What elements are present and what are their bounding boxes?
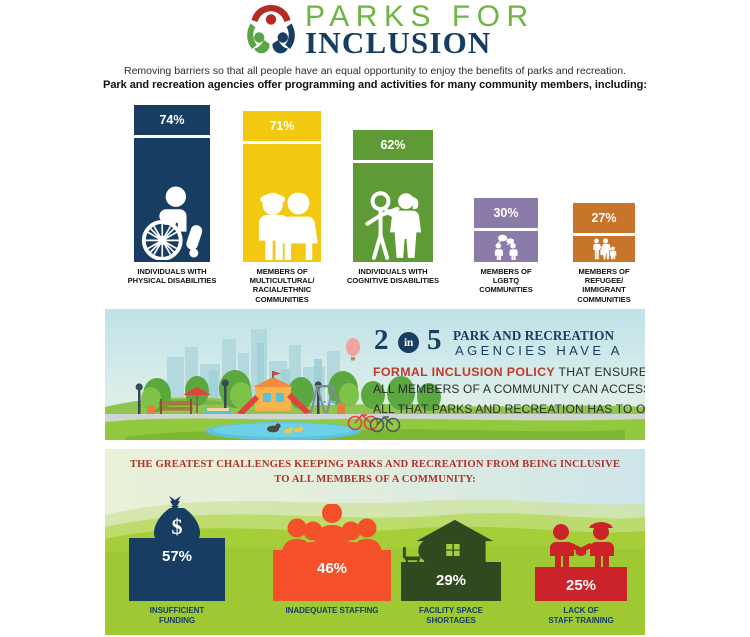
top-bar-percent-3: 62%	[353, 130, 433, 160]
top-bar-percent-1: 74%	[134, 105, 210, 135]
two-people-icon	[243, 182, 321, 260]
label-line: STAFF TRAINING	[509, 616, 645, 626]
stat-body-line-4: ALL THAT PARKS AND RECREATION HAS TO OFF…	[373, 402, 645, 416]
label-line: INDIVIDUALS WITH	[112, 267, 232, 276]
label-line: SHORTAGES	[375, 616, 527, 626]
stat-emphasis-text: FORMAL INCLUSION POLICY	[373, 365, 555, 379]
label-line: MEMBERS OF	[551, 267, 657, 276]
svg-text:$: $	[172, 514, 183, 539]
label-line: IMMIGRANT	[551, 285, 657, 294]
bottom-bar-1: $ 57%INSUFFICIENTFUNDING	[129, 538, 225, 601]
top-bar-label-3: INDIVIDUALS WITHCOGNITIVE DISABILITIES	[331, 267, 455, 285]
mid-statistic-band: 2 in 5 PARK AND RECREATION AGENCIES HAVE…	[105, 309, 645, 440]
label-line: RACIAL/ETHNIC	[221, 285, 343, 294]
label-line: FUNDING	[105, 616, 251, 626]
stat-body-line-2: FORMAL INCLUSION POLICY THAT ENSURES	[373, 363, 641, 379]
infographic-canvas: PARKS FOR INCLUSION Removing barriers so…	[0, 0, 750, 637]
top-bar-label-4: MEMBERS OFLGBTQCOMMUNITIES	[452, 267, 560, 295]
wheelchair-user-icon	[134, 182, 210, 260]
top-bar-body-1	[134, 138, 210, 262]
stat-headline-line-1: PARK AND RECREATION	[453, 328, 614, 343]
family-with-luggage-icon	[573, 238, 635, 260]
label-line: COMMUNITIES	[221, 295, 343, 304]
bottom-bar-label-4: LACK OFSTAFF TRAINING	[509, 606, 645, 626]
label-line: PHYSICAL DISABILITIES	[112, 276, 232, 285]
label-line: REFUGEE/	[551, 276, 657, 285]
label-line: LGBTQ	[452, 276, 560, 285]
stat-headline-line-2: AGENCIES HAVE A	[455, 343, 623, 358]
top-bar-body-3	[353, 163, 433, 262]
bottom-heading-line-2: TO ALL MEMBERS OF A COMMUNITY:	[105, 473, 645, 488]
top-bar-5: 27% MEMBERS OFREFUGEE/IMMIGRANTCOMMUNITI…	[573, 203, 635, 262]
stat-body-line-3: ALL MEMBERS OF A COMMUNITY CAN ACCESS AN…	[373, 382, 645, 396]
bottom-bar-3: 29%FACILITY SPACESHORTAGES	[401, 562, 501, 601]
stat-number-2: 2	[374, 326, 389, 354]
bottom-bar-body-2: 46%	[273, 550, 391, 601]
bottom-bar-2: 46%INADEQUATE STAFFING	[273, 550, 391, 601]
bottom-bar-body-4: 25%	[535, 567, 627, 601]
bottom-challenges-section: THE GREATEST CHALLENGES KEEPING PARKS AN…	[105, 449, 645, 635]
bottom-bar-body-1: 57%	[129, 538, 225, 601]
pond	[205, 422, 361, 440]
stat-headline-row: 2 in 5 PARK AND RECREATION AGENCIES HAVE…	[373, 327, 641, 355]
bottom-bar-percent-4: 25%	[566, 577, 596, 594]
label-line: LACK OF	[509, 606, 645, 616]
label-line: COMMUNITIES	[551, 295, 657, 304]
stat-line2-rest: THAT ENSURES	[555, 365, 645, 379]
bottom-bar-percent-1: 57%	[162, 548, 192, 565]
label-line: COMMUNITIES	[452, 285, 560, 294]
two-people-speech-bubbles-icon	[474, 233, 538, 260]
top-bar-label-2: MEMBERS OFMULTICULTURAL/RACIAL/ETHNICCOM…	[221, 267, 343, 304]
subtitle-block: Removing barriers so that all people hav…	[0, 64, 750, 93]
header: PARKS FOR INCLUSION	[0, 0, 750, 62]
label-line: INSUFFICIENT	[105, 606, 251, 616]
top-bar-body-5	[573, 236, 635, 262]
top-bar-2: 71% MEMBERS OFMULTICULTURAL/RACIAL/ETHNI…	[243, 111, 321, 262]
top-bar-1: 74% INDIVIDUALS WITHPHYSICAL DISABILITIE…	[134, 105, 210, 262]
bottom-bar-label-1: INSUFFICIENTFUNDING	[105, 606, 251, 626]
bottom-heading: THE GREATEST CHALLENGES KEEPING PARKS AN…	[105, 458, 645, 487]
top-bar-3: 62% INDIVIDUALS WITHCOGNITIVE DISABILITI…	[353, 130, 433, 262]
stat-in-badge: in	[398, 332, 419, 353]
top-bar-chart: 74% INDIVIDUALS WITHPHYSICAL DISABILITIE…	[0, 104, 750, 304]
label-line: INDIVIDUALS WITH	[331, 267, 455, 276]
top-bar-4: 30% MEMBERS OFLGBTQCOMMUNITIES	[474, 198, 538, 262]
bottom-bar-percent-2: 46%	[317, 560, 347, 577]
label-line: MEMBERS OF	[221, 267, 343, 276]
top-bar-label-5: MEMBERS OFREFUGEE/IMMIGRANTCOMMUNITIES	[551, 267, 657, 304]
bottom-bar-percent-3: 29%	[436, 572, 466, 589]
couple-embracing-icon	[353, 182, 433, 260]
logo-lockup: PARKS FOR INCLUSION	[243, 2, 523, 58]
label-line: FACILITY SPACE	[375, 606, 527, 616]
subtitle-line-1: Removing barriers so that all people hav…	[0, 64, 750, 78]
top-bar-percent-5: 27%	[573, 203, 635, 233]
bottom-bar-body-3: 29%	[401, 562, 501, 601]
logo-title-inclusion: INCLUSION	[305, 27, 535, 59]
stat-number-5: 5	[427, 326, 442, 354]
subtitle-line-2: Park and recreation agencies offer progr…	[0, 78, 750, 93]
bottom-bar-label-3: FACILITY SPACESHORTAGES	[375, 606, 527, 626]
bottom-heading-line-1: THE GREATEST CHALLENGES KEEPING PARKS AN…	[105, 458, 645, 473]
top-bar-label-1: INDIVIDUALS WITHPHYSICAL DISABILITIES	[112, 267, 232, 285]
bottom-bar-4: 25%LACK OFSTAFF TRAINING	[535, 567, 627, 601]
top-bar-body-4	[474, 231, 538, 262]
parks-inclusion-triskelion-logo-icon	[243, 3, 299, 57]
top-bar-percent-2: 71%	[243, 111, 321, 141]
top-bar-percent-4: 30%	[474, 198, 538, 228]
mid-statistic-text: 2 in 5 PARK AND RECREATION AGENCIES HAVE…	[373, 327, 641, 427]
label-line: COGNITIVE DISABILITIES	[331, 276, 455, 285]
logo-wordmark: PARKS FOR INCLUSION	[305, 2, 525, 58]
top-bar-body-2	[243, 144, 321, 262]
label-line: MEMBERS OF	[452, 267, 560, 276]
label-line: MULTICULTURAL/	[221, 276, 343, 285]
